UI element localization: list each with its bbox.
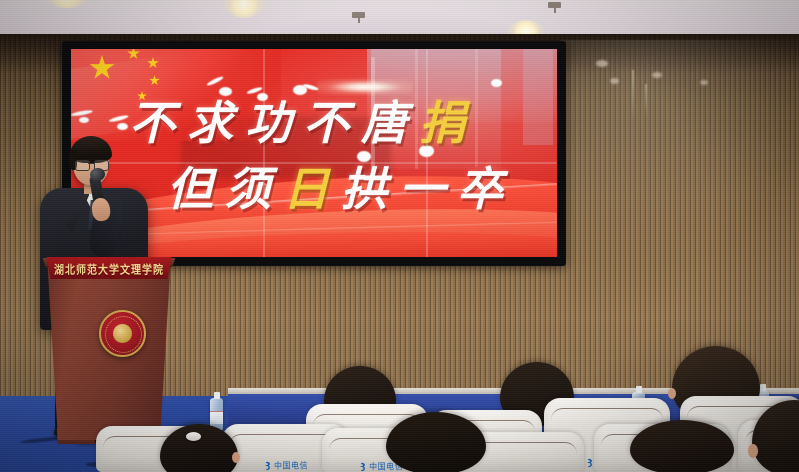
sponsor-logo: 中国电信 (262, 460, 308, 471)
screen-reflection-strip (523, 49, 553, 145)
glasses-icon (75, 160, 90, 171)
wall-scuff (652, 72, 662, 78)
glasses-bridge-icon (88, 163, 94, 164)
slogan-line-1-part-a: 不求功不唐 (129, 98, 419, 149)
bottle-label (210, 411, 223, 424)
wall-scuff (596, 60, 608, 67)
audience-ear (748, 444, 758, 458)
wall-drip (645, 84, 647, 116)
screen-reflection-sky (367, 49, 557, 123)
sprinkler-icon (548, 2, 561, 8)
slogan-line-1: 不求功不唐捐 (129, 87, 477, 153)
screen-reflection-strip (415, 49, 418, 169)
dove-wing-icon (109, 114, 129, 123)
wall-scuff (700, 80, 708, 85)
wall-drip (632, 70, 634, 120)
audience-head (386, 412, 486, 472)
flag-star-icon (89, 55, 115, 81)
china-telecom-icon (584, 458, 594, 468)
podium-banner: 湖北师范大学文理学院 (44, 257, 174, 279)
flag-star-icon (127, 49, 140, 60)
china-telecom-icon (262, 461, 272, 471)
china-telecom-icon (357, 462, 367, 472)
crest-center (113, 324, 132, 343)
dove-wing-icon (206, 75, 224, 86)
screen-reflection-dark (181, 117, 391, 179)
sponsor-logo-text: 中国电信 (274, 459, 308, 471)
chair-piping (551, 408, 663, 420)
audience-ear (232, 452, 240, 463)
dove-icon (491, 79, 502, 87)
screen-reflection-building (371, 49, 501, 169)
dove-icon (357, 151, 371, 162)
flag-star-icon (137, 91, 147, 101)
screen-reflection-strip (371, 57, 375, 173)
video-wall-seam (263, 49, 265, 257)
flag-star-icon (147, 57, 159, 69)
conference-hall-photo: 不求功不唐捐 但须日拱一卒 (0, 0, 799, 472)
podium-banner-text: 湖北师范大学文理学院 (54, 259, 164, 276)
screen-glare (317, 79, 413, 95)
dove-icon (117, 123, 128, 130)
audience-head (630, 420, 734, 472)
wall-scuff (610, 78, 619, 84)
dove-icon (219, 87, 232, 96)
video-wall-seam (71, 162, 557, 164)
sprinkler-icon (352, 12, 365, 18)
dove-icon (79, 117, 89, 123)
flag-star-icon (149, 75, 160, 86)
video-wall-seam (426, 49, 428, 257)
dove-wing-icon (71, 109, 93, 117)
audience-ear (668, 388, 676, 399)
university-crest-icon (99, 310, 146, 357)
screen-reflection-strip (475, 49, 478, 167)
hair-tie (186, 432, 201, 441)
